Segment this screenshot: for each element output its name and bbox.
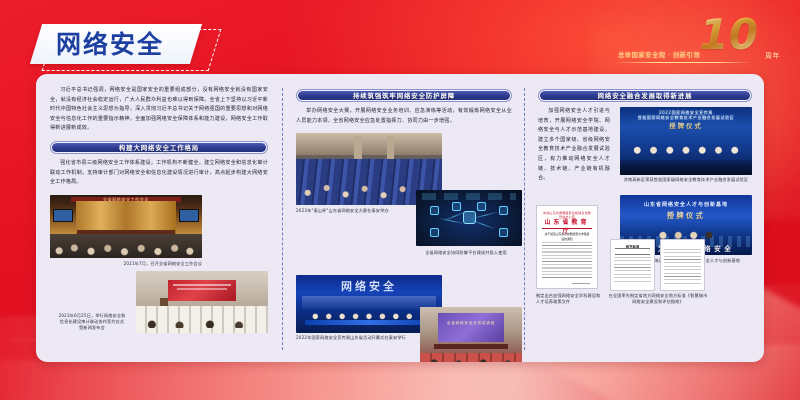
doc-signature-line	[572, 283, 590, 284]
section-paragraph-work-framework: 强化省市县三级网络安全工作体系建设，工作机构不断健全。建立网络安全和信息化审计联…	[50, 159, 268, 188]
lead-paragraph: 习近平总书记强调，网络安全是国家安全的重要组成部分，没有网络安全就没有国家安全，…	[50, 86, 268, 134]
figure-local-standard-page-a: 地方标准	[610, 239, 655, 291]
tech-node-3	[452, 202, 461, 211]
award-audience	[620, 160, 752, 175]
audi-screen-line-1	[173, 284, 231, 286]
page-title: 网络安全	[56, 30, 206, 60]
doc-red-rule	[542, 228, 592, 229]
tech-link-3	[444, 212, 465, 221]
stage-backdrop-band	[302, 296, 436, 309]
section-heading-label: 持续筑强筑牢网络安全防护屏障	[298, 91, 510, 100]
tech-node-2	[430, 228, 439, 237]
tech-node-1	[430, 206, 439, 215]
poster-canvas: 10 周年 总体国家安全观 · 创新引领 网络安全 习近平总书记强调，网络安全是…	[0, 0, 800, 400]
training-screen-text: 全省网络安全业务培训班	[438, 321, 503, 326]
training-head-table	[434, 344, 507, 349]
doc-title-text: 关于加强山东省高校网络安全学院建设的通知	[544, 232, 590, 241]
tech-link-2	[472, 212, 497, 219]
tech-central-hub	[463, 211, 476, 224]
hall-curtain	[76, 201, 176, 234]
figure-caption-defense-platform: 全省网络安全协同防御平台建成并投入使用	[410, 250, 522, 256]
tech-node-5	[499, 206, 508, 215]
training-screen	[438, 313, 503, 342]
audi-screen-line-2	[177, 288, 226, 290]
anniversary-emblem: 10 周年 总体国家安全观 · 创新引领	[612, 18, 782, 70]
figure-province-cybersecurity-work-conference: 全省网络安全工作会议	[50, 195, 202, 258]
figure-caption-audit-meeting: 2023年6月25日，举行网络安全和信息化建设审计联动协作签约仪式暨新闻发布会	[58, 313, 126, 332]
figure-caption-pilot-zone: 济南高新区荣获首批国家级网络安全教育技术产业融合发展试验区	[620, 177, 752, 183]
section-paragraph-defense-shield: 举办网络安全大赛，开展网络安全业务培训、应急演练等活动，有效锻炼网络安全从业人员…	[296, 107, 512, 126]
pdoc-b-lines	[664, 249, 700, 284]
talent-line-1: 山东省网络安全人才与创新基地	[620, 201, 752, 208]
training-attendees	[420, 353, 522, 362]
doc-body-lines	[542, 242, 591, 278]
audi-screen	[168, 280, 237, 301]
hall-screen-right	[179, 209, 199, 222]
figure-caption-province-conference: 2021年7月，召开全省网络安全工作会议	[50, 261, 202, 267]
bluehall-ceiling	[296, 133, 442, 155]
stage-backdrop-text: 网络安全	[296, 278, 442, 294]
bluehall-pillar-1	[354, 136, 361, 160]
figure-local-standard-page-b	[660, 239, 705, 291]
section-heading-defense-shield: 持续筑强筑牢网络安全防护屏障	[296, 89, 512, 102]
section-paragraph-integration: 加强网络安全人才引进与培育，开展网络安全学院、网络安全与人才示范基地建设，建立多…	[538, 107, 610, 184]
hall-audience	[50, 234, 202, 257]
figure-industry-integration-pilot-zone: 2022国家网络安全宣传周 首批国家网络安全教育技术产业融合发展试验区 授牌仪式	[620, 107, 752, 175]
emblem-slogan: 总体国家安全观 · 创新引领	[618, 50, 726, 59]
tech-node-4	[477, 202, 486, 211]
column-2: 持续筑强筑牢网络安全防护屏障 举办网络安全大赛，开展网络安全业务培训、应急演练等…	[282, 74, 524, 362]
award-subtitle: 授牌仪式	[620, 121, 752, 130]
anniversary-unit: 周年	[765, 51, 780, 61]
section-heading-integration: 网络安全融合发展取得新进展	[538, 89, 752, 102]
title-banner: 网络安全	[36, 24, 212, 68]
pdoc-a-table	[615, 248, 649, 255]
tech-top-ticker	[422, 193, 515, 200]
content-card: 习近平总书记强调，网络安全是国家安全的重要组成部分，没有网络安全就没有国家安全，…	[36, 74, 764, 362]
tech-node-6	[499, 228, 508, 237]
column-3: 网络安全融合发展取得新进展 加强网络安全人才引进与培育，开展网络安全学院、网络安…	[524, 74, 764, 362]
hall-screen-left	[53, 209, 73, 222]
stage-ribbon	[305, 320, 433, 325]
section-heading-label: 构建大网络安全工作格局	[52, 143, 266, 152]
emblem-underline	[612, 62, 752, 63]
section-heading-work-framework: 构建大网络安全工作格局	[50, 141, 268, 154]
figure-audit-coordination-meeting	[136, 271, 268, 333]
bluehall-pillar-2	[387, 136, 394, 160]
figure-provincial-policy-document: 中共山东省委网络安全和信息化委员会办公室 山东省教育厅 关于加强山东省高校网络安…	[536, 205, 598, 289]
figure-caption-local-standards: 在全国率先制定省地方网络安全地方标准《智慧城市网络安全建设和评估指南》	[608, 293, 708, 305]
section-heading-label: 网络安全融合发展取得新进展	[540, 91, 750, 100]
award-recipients	[628, 142, 744, 157]
figure-caption-policy-document: 制定出台加强网络安全学科建设和人才培养政策文件	[536, 293, 602, 305]
column-1: 习近平总书记强调，网络安全是国家安全的重要组成部分，没有网络安全就没有国家安全，…	[36, 74, 282, 362]
figure-coordinated-defense-platform	[416, 190, 522, 246]
talent-line-2: 授牌仪式	[620, 211, 752, 221]
figure-province-business-training: 全省网络安全业务培训班	[420, 307, 522, 362]
audi-attendees	[136, 311, 268, 328]
pdoc-a-lines	[614, 257, 650, 283]
